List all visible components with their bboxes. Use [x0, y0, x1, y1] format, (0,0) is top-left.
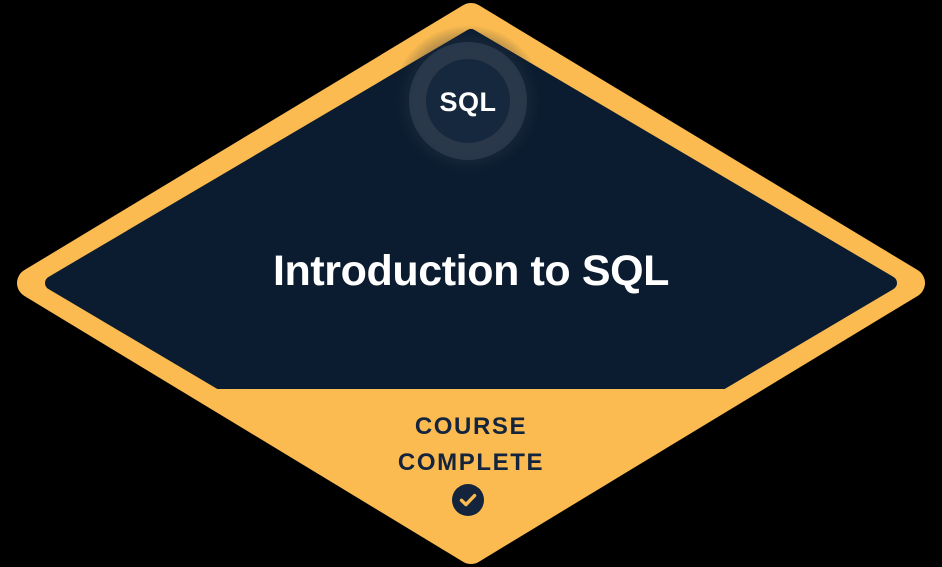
sql-ring-graphic — [392, 25, 544, 177]
badge-shape-graphic — [0, 0, 942, 567]
course-badge-card: SQL Introduction to SQL COURSE COMPLETE — [0, 0, 942, 567]
